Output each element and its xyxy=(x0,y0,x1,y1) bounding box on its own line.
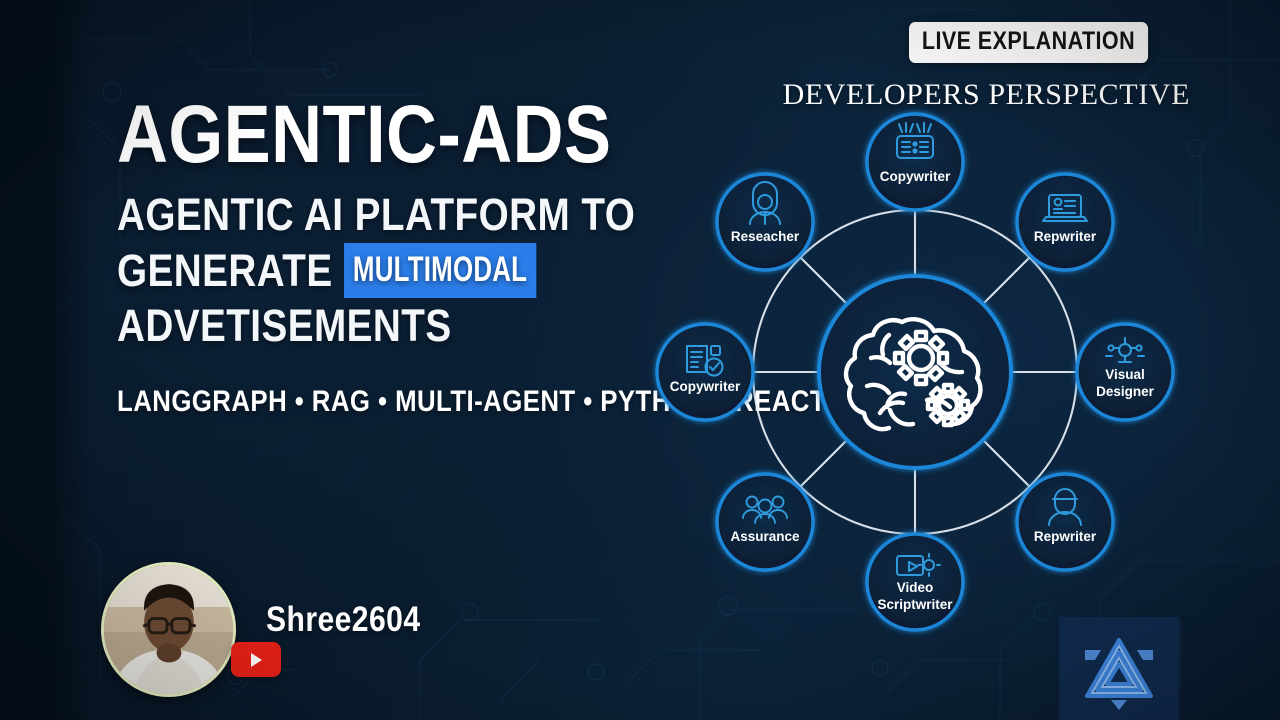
tech-stack-line: LANGGRAPH • RAG • MULTI-AGENT • PYTHON •… xyxy=(117,385,633,419)
node-assurance[interactable]: Assurance xyxy=(717,474,813,570)
node-label-line2: Designer xyxy=(1096,384,1155,399)
subtitle-line-2: GENERATE MULTIMODAL xyxy=(117,243,633,298)
live-explanation-badge: LIVE EXPLANATION xyxy=(909,22,1148,63)
left-edge-shade xyxy=(0,0,92,720)
node-label: Video xyxy=(897,580,934,595)
headline-block: AGENTIC-ADS AGENTIC AI PLATFORM TO GENER… xyxy=(117,96,717,419)
node-label: Assurance xyxy=(730,529,800,544)
subtitle-line-3: ADVETISEMENTS xyxy=(117,302,633,351)
avatar xyxy=(101,562,236,697)
multimodal-highlight: MULTIMODAL xyxy=(344,243,536,298)
node-copywriter-top[interactable]: Copywriter xyxy=(867,114,963,210)
node-researcher[interactable]: Reseacher xyxy=(717,174,813,270)
node-repwriter-upper[interactable]: Repwriter xyxy=(1017,174,1113,270)
node-video-scriptwriter[interactable]: Video Scriptwriter xyxy=(867,534,963,630)
node-label-line2: Scriptwriter xyxy=(877,597,953,612)
penrose-triangle-logo xyxy=(1071,626,1167,712)
node-label: Copywriter xyxy=(880,169,951,184)
channel-name: Shree2604 xyxy=(266,600,420,640)
node-label: Copywriter xyxy=(670,379,741,394)
agent-network-svg: Copywriter Repwriter xyxy=(640,100,1210,640)
subtitle-generate-text: GENERATE xyxy=(117,247,333,296)
youtube-play-icon[interactable] xyxy=(231,642,281,677)
subtitle-line-1: AGENTIC AI PLATFORM TO xyxy=(117,191,633,240)
agent-network-diagram: Copywriter Repwriter xyxy=(640,100,1210,640)
node-label: Reseacher xyxy=(731,229,800,244)
node-label: Repwriter xyxy=(1034,229,1097,244)
node-repwriter-lower[interactable]: Repwriter xyxy=(1017,474,1113,570)
node-label: Visual xyxy=(1105,367,1145,382)
play-triangle xyxy=(247,651,265,669)
presenter-photo xyxy=(104,565,233,694)
thumbnail-canvas: AGENTIC-ADS AGENTIC AI PLATFORM TO GENER… xyxy=(0,0,1280,720)
node-visual-designer[interactable]: Visual Designer xyxy=(1077,324,1173,420)
brand-logo xyxy=(1059,617,1179,720)
node-label: Repwriter xyxy=(1034,529,1097,544)
node-copywriter-left[interactable]: Copywriter xyxy=(657,324,753,420)
page-title: AGENTIC-ADS xyxy=(117,96,633,175)
